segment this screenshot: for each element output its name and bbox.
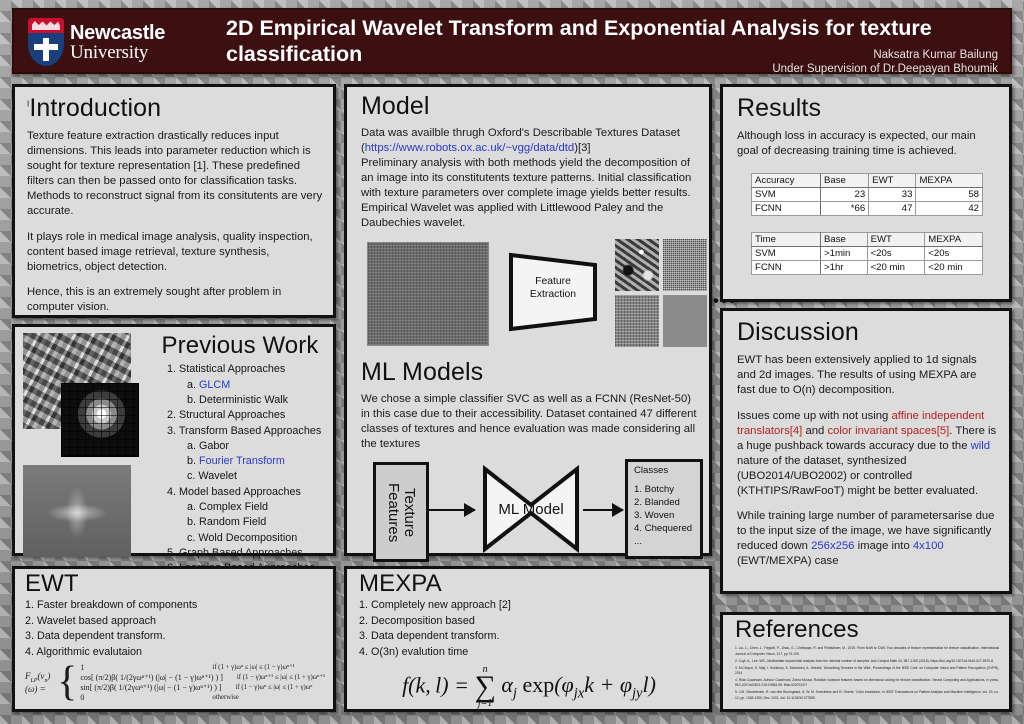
results-heading: Results <box>737 95 997 121</box>
table-cell: <20 min <box>925 261 983 275</box>
wild-link[interactable]: wild <box>971 440 990 452</box>
decomposed-texture-1 <box>615 239 659 291</box>
accuracy-table-wrap: AccuracyBaseEWTMEXPASVM233358FCNN*664742 <box>737 173 997 216</box>
ewt-formula-case: 0otherwise <box>80 693 325 702</box>
ewt-case-expression: 0 <box>80 693 198 702</box>
model-diagram: Feature Extraction ••• <box>361 237 697 349</box>
ewt-case-expression: sin[ (π/2)β( 1/(2γωⁿ⁺¹) (|ω| − (1 − γ)ωⁿ… <box>80 683 221 692</box>
author-name: Naksatra Kumar Bailung <box>772 48 998 62</box>
table-cell: SVM <box>752 188 821 202</box>
texture-features-block: TextureFeatures <box>373 462 429 562</box>
decomposed-texture-2 <box>663 239 707 291</box>
table-header-cell: Time <box>752 233 821 247</box>
list-label: Statistical Approaches <box>179 363 285 375</box>
model-text-after-link: )[3] <box>574 142 590 154</box>
table-cell: <20s <box>867 247 925 261</box>
previous-work-heading: Previous Work <box>153 333 327 358</box>
list-label: Complex Field <box>199 501 268 513</box>
previous-work-list: 1. Statistical Approachesa. GLCMb. Deter… <box>153 362 327 592</box>
table-header-cell: Base <box>821 174 869 188</box>
section-ewt: EWT 1. Faster breakdown of components2. … <box>12 566 336 712</box>
previous-work-item: c. Wavelet <box>187 469 327 484</box>
introduction-paragraph-1: Texture feature extraction drastically r… <box>27 129 323 218</box>
section-model: Model Data was availble thrugh Oxford's … <box>344 84 712 556</box>
class-list-item: 3. Woven <box>634 510 696 523</box>
ewt-formula-case: 1if (1 + γ)ωⁿ ≤ |ω| ≤ (1 − γ)ωⁿ⁺¹ <box>80 663 325 672</box>
model-intro-text: Data was availble thrugh Oxford's Descri… <box>361 126 697 156</box>
dtd-dataset-link[interactable]: https://www.robots.ox.ac.uk/~vgg/data/dt… <box>365 142 574 154</box>
list-marker: b. <box>187 455 199 467</box>
previous-work-item: 3. Transform Based Approaches <box>167 424 327 439</box>
accuracy-table: AccuracyBaseEWTMEXPASVM233358FCNN*664742 <box>751 173 983 216</box>
mexpa-list: 1. Completely new approach [2]2. Decompo… <box>359 598 699 661</box>
results-body: Although loss in accuracy is expected, o… <box>737 129 997 159</box>
table-cell: FCNN <box>752 261 821 275</box>
introduction-paragraph-3: Hence, this is an extremely sought after… <box>27 285 323 315</box>
table-cell: >1hr <box>821 261 868 275</box>
table-header-cell: Accuracy <box>752 174 821 188</box>
list-marker: b. <box>187 516 199 528</box>
list-marker: 4. <box>167 486 179 498</box>
ewt-item: 1. Faster breakdown of components <box>25 598 325 614</box>
table-header-cell: Base <box>821 233 868 247</box>
poster-header: Newcastle University 2D Empirical Wavele… <box>12 8 1012 74</box>
table-cell: 58 <box>916 188 983 202</box>
section-mexpa: MEXPA 1. Completely new approach [2]2. D… <box>344 566 712 712</box>
previous-work-item[interactable]: b. Fourier Transform <box>187 454 327 469</box>
ml-models-heading: ML Models <box>361 359 697 385</box>
time-table-wrap: TimeBaseEWTMEXPASVM>1min<20s<20sFCNN>1hr… <box>737 232 997 275</box>
arrow-features-to-model <box>427 509 475 511</box>
list-marker: c. <box>187 532 198 544</box>
ewt-case-condition: if (1 − γ)ωⁿ⁺¹ ≤ |ω| ≤ (1 + γ)ωⁿ⁺¹ <box>237 673 325 681</box>
section-references: References 1. Liu, L., Chen, J., Fieguth… <box>720 612 1012 712</box>
list-label: Random Field <box>199 516 266 528</box>
table-cell: 33 <box>869 188 916 202</box>
table-cell: SVM <box>752 247 821 261</box>
previous-work-item: 1. Statistical Approaches <box>167 362 327 377</box>
table-cell: FCNN <box>752 202 821 216</box>
university-logo: Newcastle University <box>28 18 165 66</box>
list-label: Model based Approaches <box>179 486 301 498</box>
table-header-cell: MEXPA <box>916 174 983 188</box>
ml-models-body: We chose a simple classifier SVC as well… <box>361 392 697 452</box>
class-list-item: 2. Blanded <box>634 497 696 510</box>
table-cell: <20 min <box>867 261 925 275</box>
previous-work-item[interactable]: a. GLCM <box>187 378 327 393</box>
list-marker: a. <box>187 379 199 391</box>
table-row: FCNN*664742 <box>752 202 983 216</box>
previous-work-item: b. Deterministic Walk <box>187 393 327 408</box>
previous-work-images <box>23 333 147 547</box>
supervisor-name: Under Supervision of Dr.Deepayan Bhoumik <box>772 62 998 76</box>
reference-item: 4. Rida Cuadrvani, Adhoor Cuadrvani, Zoh… <box>735 678 999 689</box>
list-label: Structural Approaches <box>179 409 285 421</box>
ewt-formula-case: cos[ (π/2)β( 1/(2γωⁿ⁺¹) (|ω| − (1 − γ)ωⁿ… <box>80 673 325 682</box>
reference-item: 5. J.M. Geusebroek, R. van den Boomgaard… <box>735 690 999 701</box>
decomposed-texture-3 <box>615 295 659 347</box>
model-heading: Model <box>361 93 697 119</box>
ewt-case-condition: if (1 − γ)ωⁿ ≤ |ω| ≤ (1 + γ)ωⁿ <box>236 684 313 691</box>
decomposed-textures-grid <box>615 239 707 347</box>
discussion-paragraph-3: While training large number of parameter… <box>737 509 997 569</box>
list-label: Wold Decomposition <box>198 532 297 544</box>
list-marker: 1. <box>167 363 179 375</box>
mexpa-item: 1. Completely new approach [2] <box>359 598 699 614</box>
ml-model-label: ML Model <box>487 501 575 518</box>
table-row: SVM>1min<20s<20s <box>752 247 983 261</box>
section-introduction: IIntroduction Texture feature extraction… <box>12 84 336 318</box>
list-label: Deterministic Walk <box>199 394 288 406</box>
ewt-formula-case: sin[ (π/2)β( 1/(2γωⁿ⁺¹) (|ω| − (1 − γ)ωⁿ… <box>80 683 325 692</box>
section-results: Results Although loss in accuracy is exp… <box>720 84 1012 302</box>
color-invariant-link[interactable]: color invariant spaces[5] <box>827 425 949 437</box>
previous-work-item: 2. Structural Approaches <box>167 408 327 423</box>
previous-work-item: a. Complex Field <box>187 500 327 515</box>
list-marker: a. <box>187 440 199 452</box>
list-marker: 3. <box>167 425 179 437</box>
image-size-value: 256x256 <box>811 540 854 552</box>
classes-list: 1. Botchy2. Blanded3. Woven4. Chequered.… <box>634 484 696 548</box>
list-marker: c. <box>187 470 198 482</box>
reference-item: 1. Liu, L., Chen, J., Fieguth, P., Zhao,… <box>735 646 999 657</box>
glcm-matrix-image <box>61 383 139 457</box>
class-list-item: 4. Chequered <box>634 523 696 536</box>
table-cell: 47 <box>869 202 916 216</box>
shield-icon <box>28 18 64 66</box>
introduction-heading: IIntroduction <box>27 95 323 121</box>
ewt-case-expression: 1 <box>80 663 198 672</box>
references-heading: References <box>735 617 999 642</box>
table-header-row: TimeBaseEWTMEXPA <box>752 233 983 247</box>
feature-extraction-label: Feature Extraction <box>513 275 593 301</box>
previous-work-item: c. Wold Decomposition <box>187 531 327 546</box>
ewt-heading: EWT <box>25 571 325 596</box>
class-list-item: 1. Botchy <box>634 484 696 497</box>
introduction-paragraph-2: It plays role in medical image analysis,… <box>27 230 323 275</box>
section-discussion: Discussion EWT has been extensively appl… <box>720 308 1012 594</box>
table-cell: 23 <box>821 188 869 202</box>
ewt-case-condition: if (1 + γ)ωⁿ ≤ |ω| ≤ (1 − γ)ωⁿ⁺¹ <box>212 663 294 671</box>
references-list: 1. Liu, L., Chen, J., Fieguth, P., Zhao,… <box>735 646 999 701</box>
arrow-model-to-classes <box>583 509 623 511</box>
decomposed-texture-4 <box>663 295 707 347</box>
table-row: SVM233358 <box>752 188 983 202</box>
table-cell: *66 <box>821 202 869 216</box>
list-marker: 2. <box>167 409 179 421</box>
previous-work-item: 4. Model based Approaches <box>167 485 327 500</box>
table-cell: <20s <box>925 247 983 261</box>
mexpa-item: 3. Data dependent transform. <box>359 629 699 645</box>
logo-line-2: University <box>70 43 165 62</box>
table-header-cell: MEXPA <box>925 233 983 247</box>
table-cell: >1min <box>821 247 868 261</box>
previous-work-item: 5. Graph Based Approaches <box>167 546 327 561</box>
reduced-size-value: 4x100 <box>913 540 944 552</box>
previous-work-item: a. Gabor <box>187 439 327 454</box>
mexpa-item: 4. O(3n) evalution time <box>359 645 699 661</box>
ml-models-diagram: TextureFeatures ML Model Classes 1. Botc… <box>361 459 697 563</box>
table-cell: 42 <box>916 202 983 216</box>
mexpa-formula: f(k, l) = n ∑ j=1 αj exp(φjxk + φjyl) <box>359 665 699 710</box>
fourier-spectrum-image <box>23 465 131 557</box>
list-label[interactable]: Fourier Transform <box>199 455 285 467</box>
classes-output-box: Classes 1. Botchy2. Blanded3. Woven4. Ch… <box>625 459 703 559</box>
discussion-heading: Discussion <box>737 319 997 345</box>
previous-work-item: b. Random Field <box>187 515 327 530</box>
logo-line-1: Newcastle <box>70 23 165 43</box>
list-label: Gabor <box>199 440 229 452</box>
list-label: Wavelet <box>198 470 237 482</box>
table-header-row: AccuracyBaseEWTMEXPA <box>752 174 983 188</box>
classes-title: Classes <box>634 465 696 478</box>
ewt-case-condition: otherwise <box>212 694 238 701</box>
reference-item: 3. M.Cimpoi, S. Maji, I. Kokkinos, S. Mo… <box>735 666 999 677</box>
ewt-list: 1. Faster breakdown of components2. Wave… <box>25 598 325 661</box>
ewt-formula: FLP(νn)(ω) = { 1if (1 + γ)ωⁿ ≤ |ω| ≤ (1 … <box>25 663 325 702</box>
input-texture-image <box>367 242 489 346</box>
list-label: Transform Based Approaches <box>179 425 321 437</box>
discussion-paragraph-2: Issues come up with not using affine ind… <box>737 409 997 498</box>
discussion-paragraph-1: EWT has been extensively applied to 1d s… <box>737 353 997 398</box>
poster-byline: Naksatra Kumar Bailung Under Supervision… <box>772 48 998 77</box>
list-label: Graph Based Approaches <box>179 547 303 559</box>
list-marker: a. <box>187 501 199 513</box>
table-header-cell: EWT <box>869 174 916 188</box>
table-header-cell: EWT <box>867 233 925 247</box>
model-body-text: Preliminary analysis with both methods y… <box>361 156 697 231</box>
poster-root: Newcastle University 2D Empirical Wavele… <box>0 0 1024 724</box>
table-row: FCNN>1hr<20 min<20 min <box>752 261 983 275</box>
mexpa-heading: MEXPA <box>359 571 699 596</box>
list-label[interactable]: GLCM <box>199 379 230 391</box>
section-previous-work: Previous Work 1. Statistical Approachesa… <box>12 324 336 556</box>
list-marker: 5. <box>167 547 179 559</box>
time-table: TimeBaseEWTMEXPASVM>1min<20s<20sFCNN>1hr… <box>751 232 983 275</box>
ewt-case-expression: cos[ (π/2)β( 1/(2γωⁿ⁺¹) (|ω| − (1 − γ)ωⁿ… <box>80 673 223 682</box>
class-list-item: ... <box>634 536 696 549</box>
ewt-item: 2. Wavelet based approach <box>25 614 325 630</box>
mexpa-item: 2. Decomposition based <box>359 614 699 630</box>
list-marker: b. <box>187 394 199 406</box>
ewt-item: 3. Data dependent transform. <box>25 629 325 645</box>
reference-item: 2. Cuyt, A., Lee, WS., Multivariate expo… <box>735 659 999 664</box>
